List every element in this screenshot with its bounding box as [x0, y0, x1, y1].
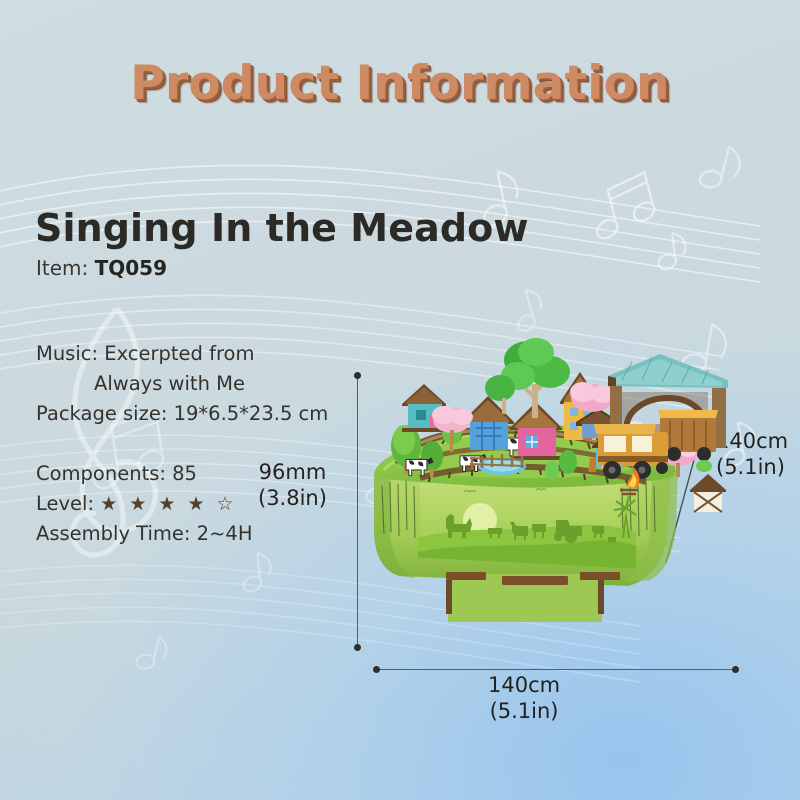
product-image: [360, 280, 760, 670]
spec-music-line1: Music: Excerpted from: [36, 342, 254, 365]
item-code: TQ059: [95, 256, 167, 280]
level-star-rating: ★ ★ ★ ★ ☆: [100, 493, 236, 515]
spec-package-size: Package size: 19*6.5*23.5 cm: [36, 402, 328, 425]
spec-components: Components: 85: [36, 459, 253, 489]
dimension-height-imperial: (3.8in): [258, 485, 327, 511]
dimension-width-imperial: (5.1in): [488, 698, 560, 724]
drawer-pull: [446, 572, 620, 622]
dimension-height-metric: 96mm: [258, 459, 327, 485]
spec-music-line2: Always with Me: [36, 369, 328, 399]
music-note-icon: [695, 141, 743, 196]
item-code-line: Item: TQ059: [36, 256, 167, 280]
music-note-icon: [583, 172, 661, 244]
spec-assembly-time: Assembly Time: 2~4H: [36, 519, 253, 549]
music-note-icon: [133, 633, 169, 675]
product-name: Singing In the Meadow: [35, 206, 529, 250]
page-title: Product Information: [0, 56, 800, 111]
item-label: Item:: [36, 256, 88, 280]
music-note-icon: [654, 232, 688, 273]
dimension-line-height: [357, 375, 358, 647]
spec-level: Level: ★ ★ ★ ★ ☆: [36, 489, 253, 519]
music-note-icon: [239, 552, 274, 595]
spec-group-details: Components: 85 Level: ★ ★ ★ ★ ☆ Assembly…: [36, 459, 253, 549]
spec-group-music: Music: Excerpted from Always with Me Pac…: [36, 339, 328, 429]
dimension-width-metric: 140cm: [488, 672, 560, 698]
dimension-label-height: 96mm (3.8in): [258, 459, 327, 511]
dimension-label-width: 140cm (5.1in): [488, 672, 560, 724]
spec-level-label: Level:: [36, 492, 94, 515]
